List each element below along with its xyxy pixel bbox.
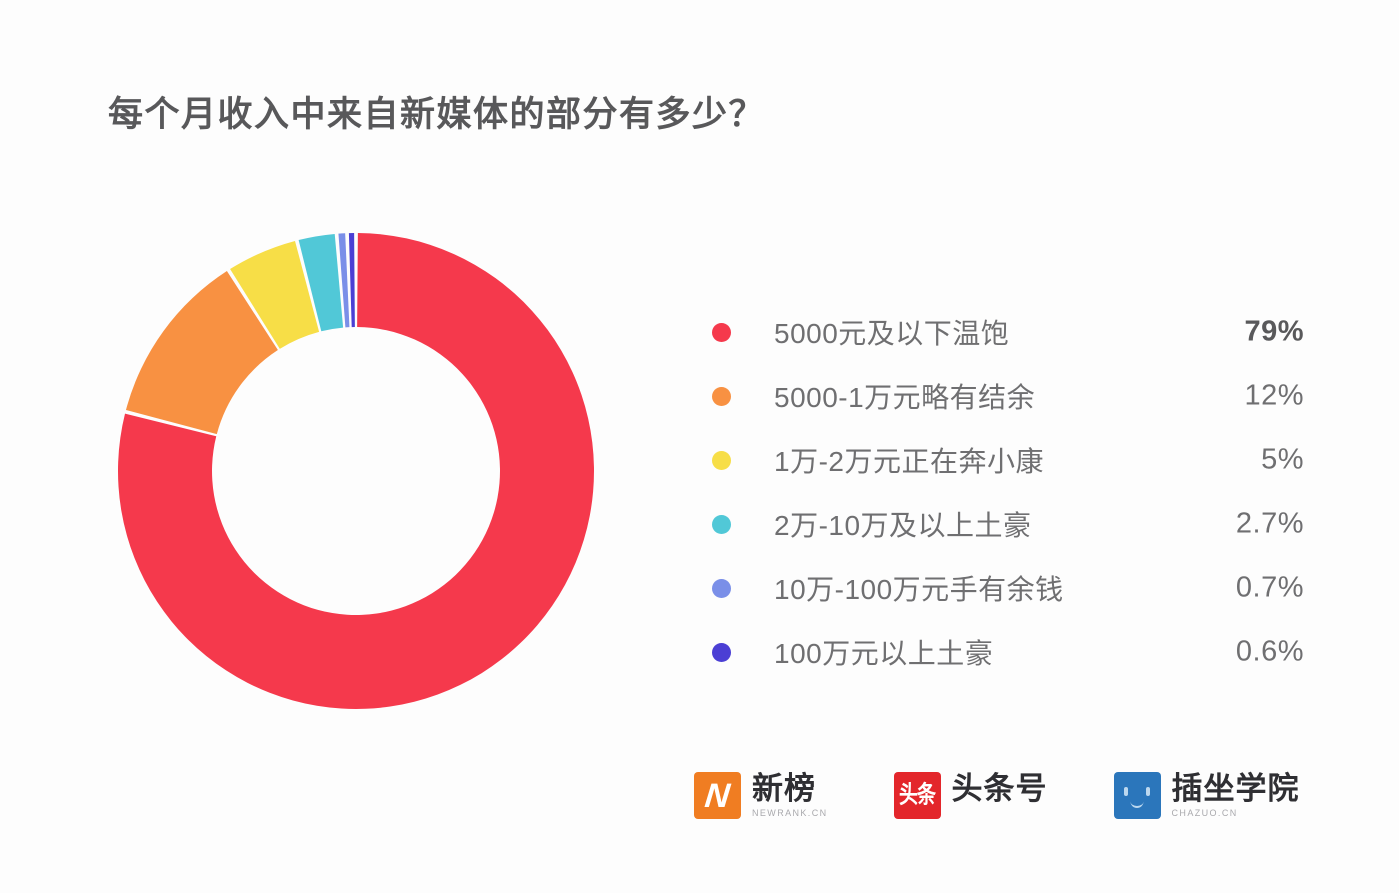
legend-swatch-icon — [712, 515, 731, 534]
toutiao-mark-glyph: 头条 — [899, 784, 935, 808]
logo-toutiao[interactable]: 头条 头条号 TOUTIAO — [894, 772, 1048, 819]
legend-value: 79% — [1244, 316, 1304, 349]
legend-label: 10万-100万元手有余钱 — [774, 568, 1064, 608]
legend-value: 0.6% — [1236, 636, 1304, 669]
chart-page: 每个月收入中来自新媒体的部分有多少？ 5000元及以下温饱 79% 5000-1… — [0, 0, 1399, 893]
logo-chazuo[interactable]: 插坐学院 CHAZUO.CN — [1114, 772, 1300, 819]
donut-chart-svg — [117, 232, 595, 710]
legend-value: 5% — [1261, 444, 1304, 477]
legend-swatch-icon — [712, 323, 731, 342]
chazuo-mouth-icon — [1131, 801, 1144, 808]
logo-name: 插坐学院 — [1172, 773, 1300, 806]
chazuo-logo-icon — [1114, 772, 1161, 819]
legend-value: 2.7% — [1236, 508, 1304, 541]
logo-chazuo-text: 插坐学院 CHAZUO.CN — [1172, 773, 1300, 819]
legend-label: 5000元及以下温饱 — [774, 312, 1009, 352]
legend-item-3[interactable]: 2万-10万及以上土豪 2.7% — [712, 492, 1312, 556]
legend-item-5[interactable]: 100万元以上土豪 0.6% — [712, 620, 1312, 684]
logo-name: 头条号 — [952, 773, 1048, 806]
newrank-logo-icon: N — [694, 772, 741, 819]
toutiao-logo-icon: 头条 — [894, 772, 941, 819]
logo-newrank[interactable]: N 新榜 NEWRANK.CN — [694, 772, 828, 819]
logo-subtitle: NEWRANK.CN — [752, 808, 828, 818]
legend-swatch-icon — [712, 579, 731, 598]
donut-slice[interactable] — [349, 233, 355, 327]
logo-newrank-text: 新榜 NEWRANK.CN — [752, 773, 828, 819]
logo-subtitle: CHAZUO.CN — [1172, 808, 1300, 818]
logo-name: 新榜 — [752, 773, 828, 806]
chazuo-face-icon — [1120, 783, 1154, 809]
legend-swatch-icon — [712, 643, 731, 662]
chazuo-eye-right-icon — [1146, 787, 1150, 796]
legend-label: 5000-1万元略有结余 — [774, 376, 1035, 416]
legend-label: 2万-10万及以上土豪 — [774, 504, 1032, 544]
logo-toutiao-text: 头条号 TOUTIAO — [952, 773, 1048, 819]
legend-item-2[interactable]: 1万-2万元正在奔小康 5% — [712, 428, 1312, 492]
legend-item-0[interactable]: 5000元及以下温饱 79% — [712, 300, 1312, 364]
donut-chart — [117, 232, 595, 710]
chart-legend: 5000元及以下温饱 79% 5000-1万元略有结余 12% 1万-2万元正在… — [712, 300, 1312, 684]
legend-label: 1万-2万元正在奔小康 — [774, 440, 1044, 480]
legend-value: 0.7% — [1236, 572, 1304, 605]
legend-swatch-icon — [712, 387, 731, 406]
footer-logos: N 新榜 NEWRANK.CN 头条 头条号 TOUTIAO — [694, 772, 1300, 819]
legend-value: 12% — [1244, 380, 1304, 413]
chazuo-eye-left-icon — [1124, 787, 1128, 796]
donut-slice-group — [118, 233, 594, 709]
legend-swatch-icon — [712, 451, 731, 470]
page-title: 每个月收入中来自新媒体的部分有多少？ — [108, 86, 765, 137]
newrank-mark-glyph: N — [703, 779, 731, 813]
legend-item-1[interactable]: 5000-1万元略有结余 12% — [712, 364, 1312, 428]
legend-label: 100万元以上土豪 — [774, 632, 993, 672]
legend-item-4[interactable]: 10万-100万元手有余钱 0.7% — [712, 556, 1312, 620]
